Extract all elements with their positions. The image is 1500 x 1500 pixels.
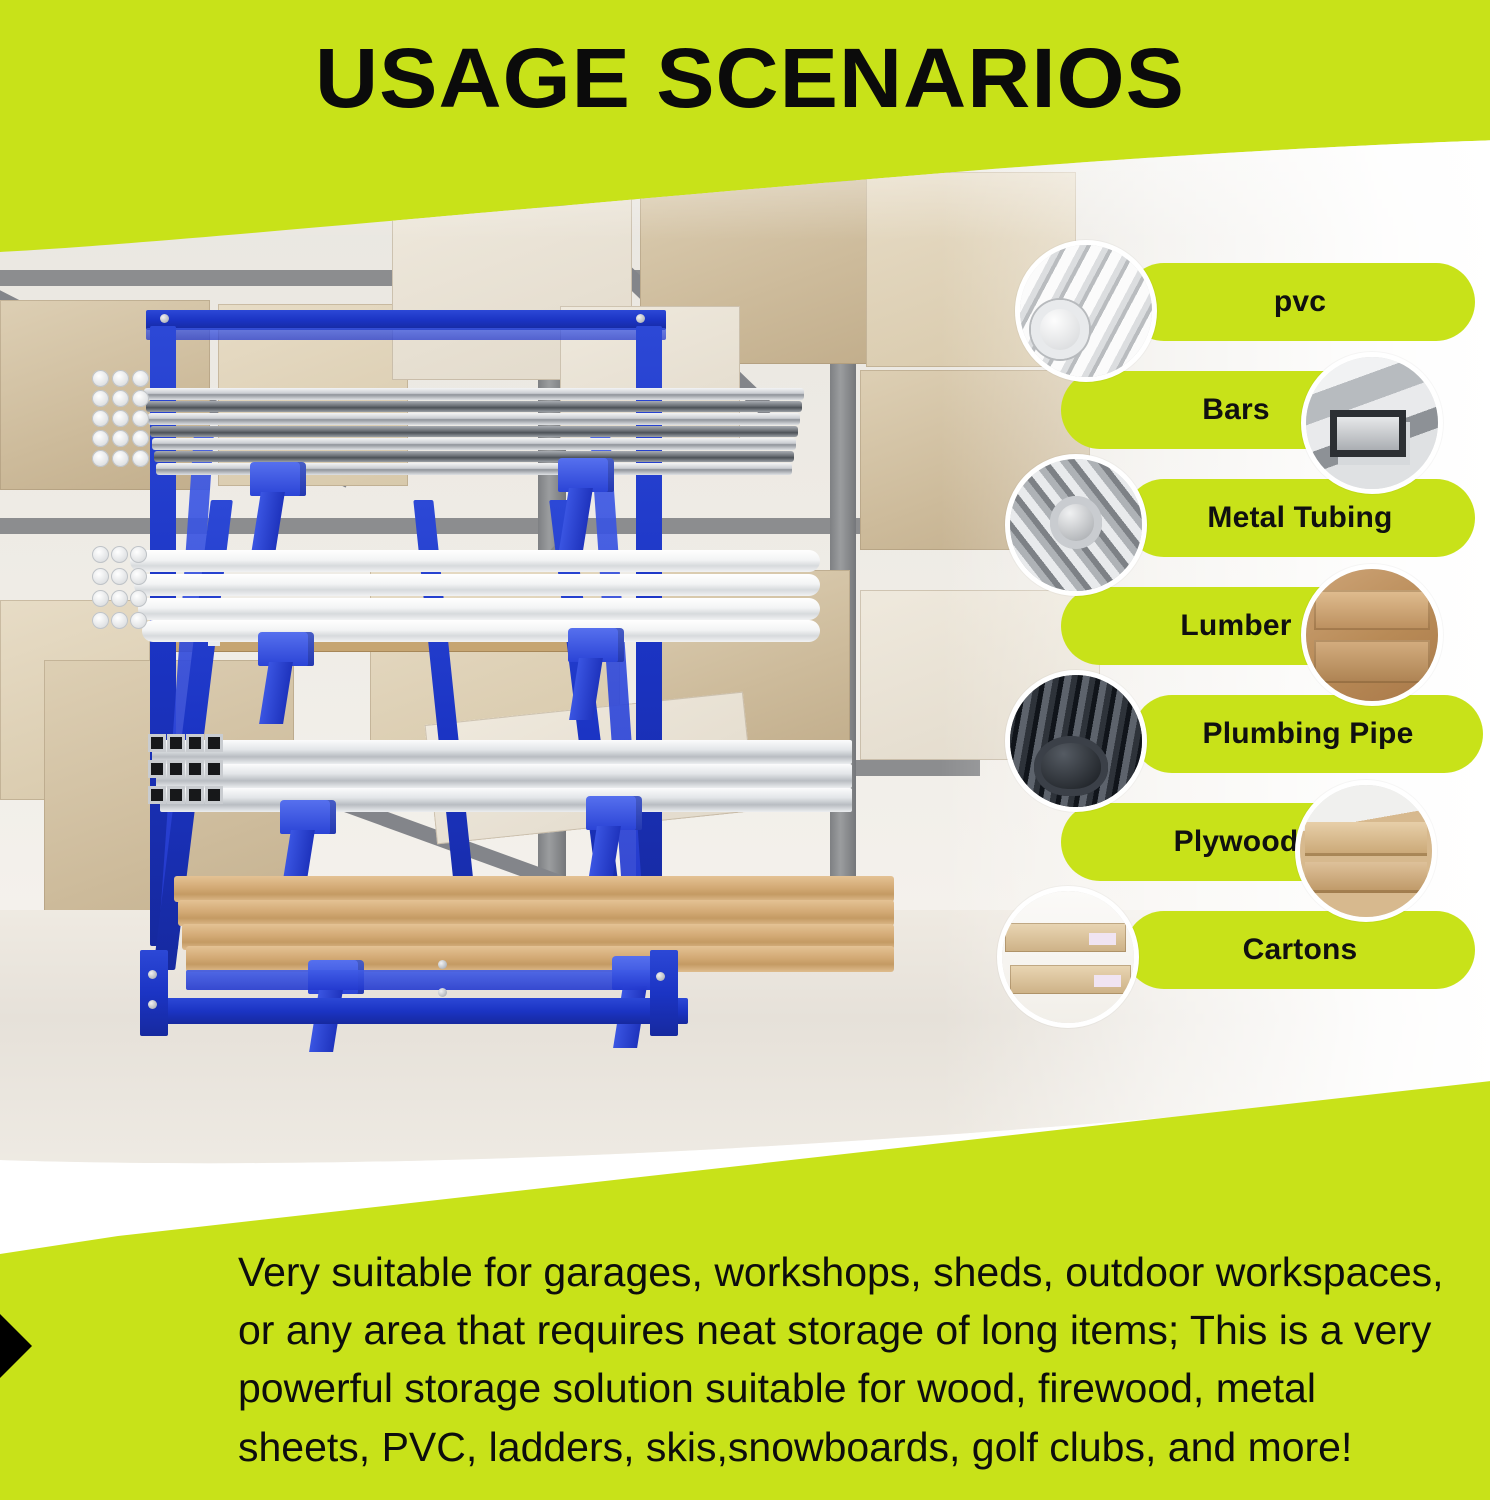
- pvc-pipes-icon: [1015, 240, 1157, 382]
- lumber-icon: [1301, 564, 1443, 706]
- plywood-icon: [1295, 780, 1437, 922]
- rack-bolt: [636, 314, 645, 323]
- footer-description: Very suitable for garages, workshops, sh…: [238, 1243, 1453, 1476]
- rack-bolt: [438, 988, 447, 997]
- page-title: USAGE SCENARIOS: [0, 36, 1500, 120]
- plumbing-pipe-icon: [1005, 670, 1147, 812]
- scenario-label: Metal Tubing: [1125, 501, 1475, 535]
- rack-foot-right: [650, 950, 678, 1036]
- footer-line: or any area that requires neat storage o…: [238, 1301, 1453, 1359]
- scenario-label: Plumbing Pipe: [1133, 717, 1483, 751]
- scenario-pill[interactable]: pvc: [1125, 263, 1475, 341]
- scenario-pill[interactable]: Plumbing Pipe: [1133, 695, 1483, 773]
- black-chevron-arrow-badge: [0, 1196, 182, 1496]
- shelf-load-aluminum: [152, 740, 852, 820]
- rack-bolt: [148, 1000, 157, 1009]
- scenario-pill[interactable]: Cartons: [1125, 911, 1475, 989]
- rack-top-rail-back: [146, 328, 666, 340]
- rack-bolt: [656, 972, 665, 981]
- footer-line: sheets, PVC, ladders, skis,snowboards, g…: [238, 1418, 1453, 1476]
- scenario-list: pvc Bars Metal Tubing: [1005, 250, 1475, 1060]
- cantilever-rack: [138, 310, 908, 1070]
- rack-bolt: [160, 314, 169, 323]
- metal-bars-icon: [1301, 352, 1443, 494]
- scenario-label: pvc: [1125, 285, 1475, 319]
- rack-bolt: [148, 970, 157, 979]
- metal-tubing-icon: [1005, 454, 1147, 596]
- chevron-icon: [0, 1196, 182, 1496]
- footer-line: powerful storage solution suitable for w…: [238, 1359, 1453, 1417]
- footer-line: Very suitable for garages, workshops, sh…: [238, 1243, 1453, 1301]
- rack-bolt: [438, 960, 447, 969]
- cartons-icon: [997, 886, 1139, 1028]
- shelf-load-pvc: [130, 550, 820, 646]
- pvc-end-bundle: [92, 546, 152, 656]
- rack-top-rail: [146, 310, 666, 330]
- square-tube-ends: [148, 734, 228, 826]
- shelf-load-bars: [144, 388, 804, 476]
- bar-end-bundle: [92, 370, 152, 480]
- rack-base-front: [148, 998, 688, 1024]
- scenario-row[interactable]: pvc: [1005, 250, 1475, 354]
- infographic-page: USAGE SCENARIOS: [0, 0, 1500, 1500]
- scenario-label: Cartons: [1125, 933, 1475, 967]
- rack-base-back: [186, 970, 656, 990]
- page-right-edge: [1490, 0, 1500, 1500]
- scenario-pill[interactable]: Metal Tubing: [1125, 479, 1475, 557]
- rack-foot-left: [140, 950, 168, 1036]
